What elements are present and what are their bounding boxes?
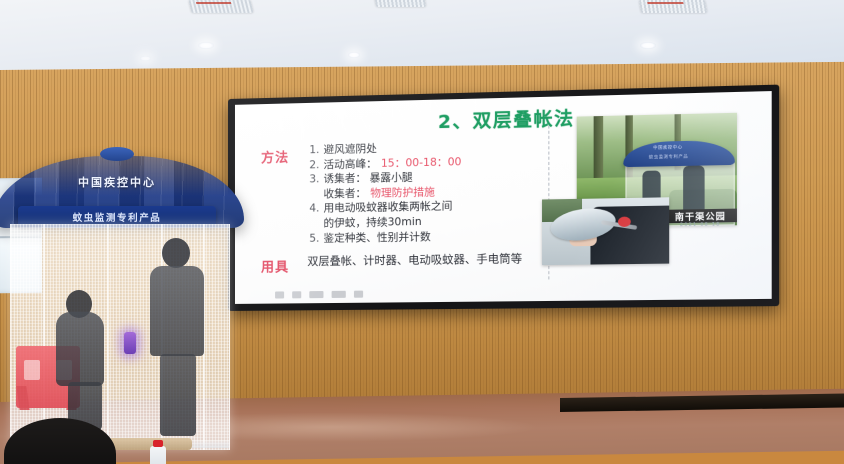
projection-screen[interactable]: 2、双层叠帐法 方法 1. 避风遮阴处 2. 活动高峰： 15：00-18：00…: [228, 85, 779, 311]
downlight-2: [348, 52, 360, 58]
person-torso: [150, 266, 204, 356]
person-head: [162, 238, 190, 268]
list-item: 5. 鉴定种类、性别并计数: [307, 229, 544, 246]
standing-operator: [148, 238, 208, 436]
list-subtext: 收集者：: [323, 187, 366, 201]
list-text: 诱集者： 暴露小腿: [323, 172, 412, 187]
umbrella-brand-text: 中国疾控中心: [42, 174, 192, 190]
presentation-room-scene: 2、双层叠帐法 方法 1. 避风遮阴处 2. 活动高峰： 15：00-18：00…: [0, 0, 844, 464]
list-number: 1.: [307, 144, 319, 158]
umbrella-text-band: 蚊虫监测专利产品: [649, 153, 688, 160]
presenter-toolbar[interactable]: [275, 291, 363, 299]
water-bottle: [150, 446, 166, 464]
list-number: 5.: [307, 232, 319, 246]
air-vent-1: [188, 0, 253, 13]
list-highlight: 15：00-18：00: [381, 156, 462, 171]
umbrella-product-text: 蚊虫监测专利产品: [18, 210, 216, 224]
air-vent-3: [639, 0, 707, 13]
stool-leg: [16, 386, 29, 410]
photo-caption-text: 南干渠公园: [675, 209, 726, 222]
pointer-icon[interactable]: [292, 291, 301, 298]
downlight-4: [140, 56, 151, 61]
pen-icon[interactable]: [275, 291, 284, 298]
person-torso: [56, 312, 104, 386]
more-icon[interactable]: [354, 291, 363, 298]
double-net-trap-demo: 中国疾控中心 蚊虫监测专利产品: [0, 150, 258, 450]
tools-label: 用具: [261, 256, 289, 275]
umbrella-text-top: 中国疾控中心: [653, 144, 683, 151]
list-text: 避风遮阴处: [323, 143, 376, 158]
method-list: 1. 避风遮阴处 2. 活动高峰： 15：00-18：00 3. 诱集者： 暴露…: [307, 139, 544, 247]
air-vent-2: [374, 0, 426, 7]
slide-icon[interactable]: [332, 291, 346, 298]
downlight-3: [640, 42, 656, 49]
list-text: 鉴定种类、性别并计数: [323, 230, 430, 245]
list-subtext: 的伊蚊，持续30min: [323, 216, 421, 231]
tools-text: 双层叠帐、计时器、电动吸蚊器、手电筒等: [307, 251, 528, 269]
device-indicator-light: [124, 332, 136, 354]
photo-date: 2021 08 18: [664, 222, 737, 228]
net-fold: [43, 224, 45, 450]
list-number: 4.: [307, 203, 319, 217]
slide-title: 2、双层叠帐法: [438, 104, 575, 134]
list-text: 活动高峰：: [323, 157, 376, 172]
person-legs: [160, 354, 196, 436]
field-photo-aspirator-collection: [542, 197, 669, 265]
list-number: 2.: [307, 159, 319, 173]
list-highlight: 物理防护措施: [370, 186, 435, 201]
method-label: 方法: [261, 147, 289, 167]
photo-caption: 南干渠公园: [664, 209, 737, 224]
list-number: 3.: [307, 173, 319, 187]
grid-icon[interactable]: [309, 291, 323, 298]
list-text: 用电动吸蚊器收集两帐之间: [323, 200, 452, 216]
downlight-1: [198, 42, 214, 49]
slide-panel: 2、双层叠帐法 方法 1. 避风遮阴处 2. 活动高峰： 15：00-18：00…: [235, 91, 772, 304]
seated-collector: [50, 312, 108, 434]
umbrella-finial: [100, 147, 134, 161]
